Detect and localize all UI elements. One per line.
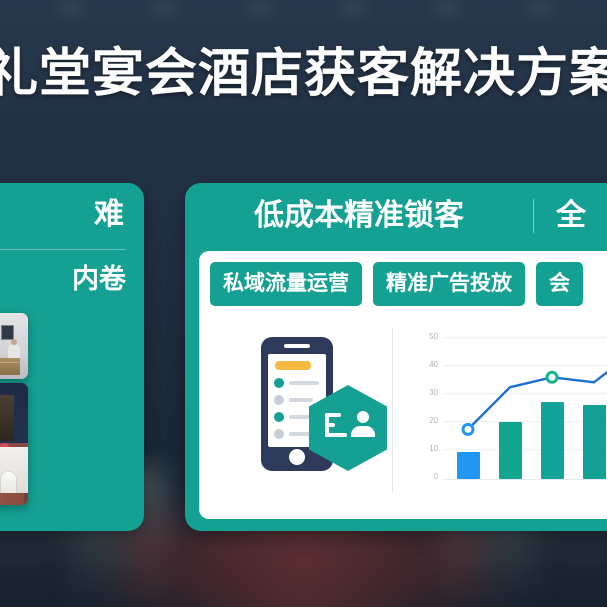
phone-home-button xyxy=(289,449,305,465)
banquet-hall-photo xyxy=(0,383,28,505)
phone-speaker xyxy=(284,344,310,348)
slide-canvas: 礼堂宴会酒店获客解决方案 难 内卷 xyxy=(0,0,607,607)
chart-x-label-3 xyxy=(541,484,564,496)
checklist-dot-2 xyxy=(274,395,284,405)
right-card-heading-primary: 低成本精准锁客 xyxy=(185,191,533,241)
left-card-heading: 难 xyxy=(0,193,124,237)
panel-divider xyxy=(392,327,393,492)
left-card-divider xyxy=(0,249,126,250)
chart-trend-line xyxy=(411,327,607,502)
tag-third[interactable]: 会 xyxy=(536,262,583,306)
right-card-heading-secondary: 全 xyxy=(534,191,607,241)
background-ceiling-lights xyxy=(0,0,607,40)
tag-precise-advertising[interactable]: 精准广告投放 xyxy=(373,262,525,306)
growth-bar-chart: 50 40 30 20 10 0 xyxy=(411,327,607,502)
right-card-heading-row: 低成本精准锁客 全 xyxy=(185,191,607,241)
left-card-subheading: 内卷 xyxy=(0,259,126,299)
content-panel: 私域流量运营 精准广告投放 会 xyxy=(199,251,607,519)
right-card: 低成本精准锁客 全 私域流量运营 精准广告投放 会 xyxy=(185,183,607,531)
checklist-line-4 xyxy=(289,432,310,436)
left-card: 难 内卷 xyxy=(0,183,144,531)
conference-panel-photo xyxy=(0,313,28,379)
mobile-crm-illustration xyxy=(239,333,387,493)
chart-x-axis-labels xyxy=(447,484,607,496)
checklist-dot-4 xyxy=(274,429,284,439)
tag-private-traffic[interactable]: 私域流量运营 xyxy=(210,262,362,306)
checklist-dot-3 xyxy=(274,412,284,422)
background-carpet xyxy=(120,520,487,607)
page-title: 礼堂宴会酒店获客解决方案 xyxy=(0,41,607,107)
highlight-bar xyxy=(275,361,311,370)
chart-x-label-2 xyxy=(499,484,522,496)
checklist-line-2 xyxy=(289,398,313,402)
chart-x-label-4 xyxy=(583,484,606,496)
checklist-line-1 xyxy=(289,381,319,385)
chart-x-label-1 xyxy=(457,484,480,496)
checklist-dot-1 xyxy=(274,378,284,388)
tag-list: 私域流量运营 精准广告投放 会 xyxy=(210,262,583,306)
